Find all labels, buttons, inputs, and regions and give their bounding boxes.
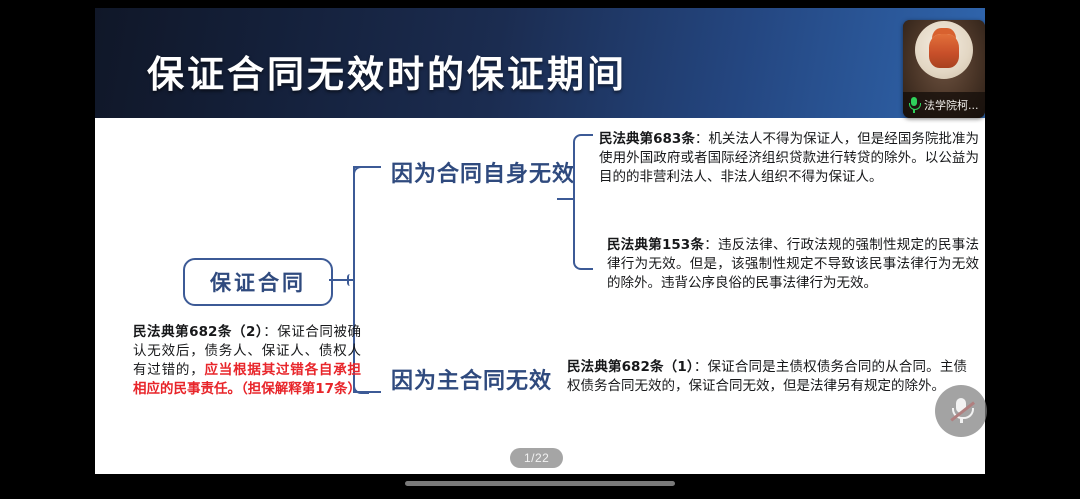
article-683-heading: 民法典第683条: [599, 131, 695, 147]
participant-avatar: [915, 21, 973, 79]
text-block-article-683: 民法典第683条：机关法人不得为保证人，但是经国务院批准为使用外国政府或者国际经…: [599, 130, 979, 187]
screen-share-viewport: 保证合同无效时的保证期间 保证合同 因为合同自身无效 因为主合同无效 民法典第6…: [0, 0, 1080, 499]
article-153-heading: 民法典第153条: [607, 237, 704, 253]
main-brace-nub: [347, 274, 357, 286]
participant-video-tile[interactable]: 法学院柯...: [903, 20, 985, 118]
presentation-slide[interactable]: 保证合同无效时的保证期间 保证合同 因为合同自身无效 因为主合同无效 民法典第6…: [95, 8, 985, 474]
self-mute-button[interactable]: [935, 385, 987, 437]
text-block-article-682-2: 民法典第682条（2）：保证合同被确认无效后，债务人、保证人、债权人有过错的，应…: [133, 323, 361, 400]
mic-muted-icon: [950, 397, 972, 425]
slide-title: 保证合同无效时的保证期间: [147, 44, 627, 98]
branch-label-main-contract-invalid: 因为主合同无效: [391, 363, 552, 395]
text-block-article-682-1: 民法典第682条（1）：保证合同是主债权债务合同的从合同。主债权债务合同无效的，…: [567, 358, 967, 396]
sub-bracket-shape: [573, 134, 593, 270]
article-682-1-heading: 民法典第682条（1）: [567, 359, 694, 375]
article-682-2-heading: 民法典第682条（2）: [133, 324, 263, 340]
microphone-active-icon: [908, 97, 920, 113]
home-indicator-bar: [405, 481, 675, 486]
main-brace-arm-top: [353, 166, 381, 168]
slide-header-band: 保证合同无效时的保证期间: [95, 8, 985, 118]
slide-body: 保证合同 因为合同自身无效 因为主合同无效 民法典第683条：机关法人不得为保证…: [95, 118, 985, 474]
participant-name-label: 法学院柯...: [924, 97, 979, 113]
main-brace-corner-top: [353, 166, 369, 182]
text-block-article-153: 民法典第153条：违反法律、行政法规的强制性规定的民事法律行为无效。但是，该强制…: [607, 236, 979, 293]
mindmap-root-node: 保证合同: [183, 258, 333, 306]
participant-name-bar: 法学院柯...: [903, 92, 985, 118]
slide-page-indicator: 1/22: [510, 448, 563, 468]
branch-label-contract-itself-invalid: 因为合同自身无效: [391, 156, 575, 188]
